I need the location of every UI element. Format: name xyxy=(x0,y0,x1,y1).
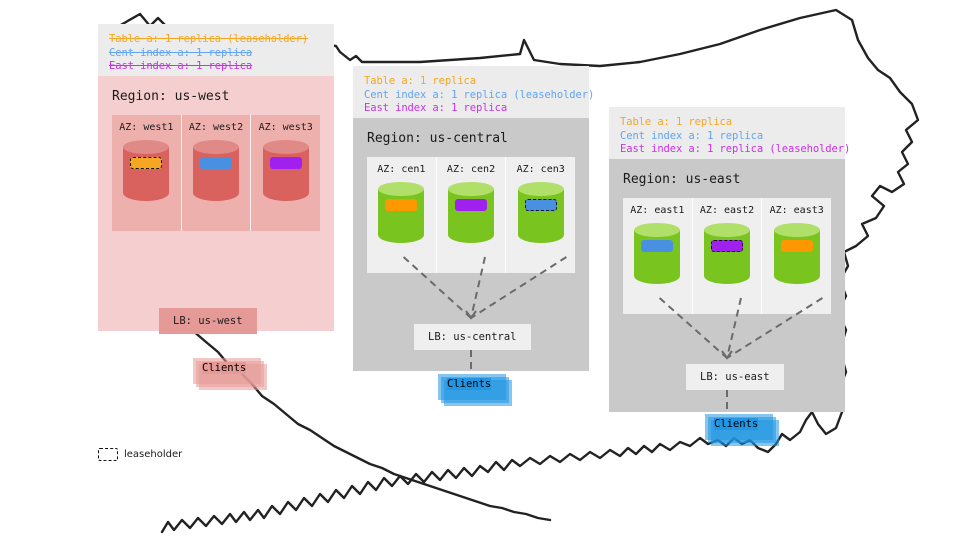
region-title-us-central: Region: us-central xyxy=(353,118,589,157)
clients-stack-us-west[interactable]: Clients xyxy=(190,355,258,381)
clients-box[interactable]: Clients xyxy=(190,355,258,381)
replica-legend-us-central: Table a: 1 replicaCent index a: 1 replic… xyxy=(353,66,589,118)
cylinder-top xyxy=(123,140,169,154)
az-label: AZ: east3 xyxy=(762,205,831,216)
region-title-us-east: Region: us-east xyxy=(609,159,845,198)
cylinder-body xyxy=(263,147,309,201)
clients-label: Clients xyxy=(202,362,246,374)
az-label: AZ: cen3 xyxy=(506,164,575,175)
database-cylinder-icon xyxy=(263,140,309,208)
database-cylinder-icon xyxy=(518,182,564,250)
legend-line-cent-us-west: Cent index a: 1 replica xyxy=(109,47,323,61)
clients-stack-us-central[interactable]: Clients xyxy=(435,371,503,397)
database-cylinder-icon xyxy=(378,182,424,250)
diagram-canvas: Table a: 1 replica (leaseholder)Cent ind… xyxy=(0,0,960,540)
az-cell-az-cen3[interactable]: AZ: cen3 xyxy=(505,157,575,273)
cylinder-body xyxy=(704,230,750,284)
cylinder-top xyxy=(634,223,680,237)
az-cell-az-cen1[interactable]: AZ: cen1 xyxy=(367,157,436,273)
replica-band xyxy=(455,199,487,211)
replica-band xyxy=(270,157,302,169)
clients-label: Clients xyxy=(447,378,491,390)
cylinder-top xyxy=(193,140,239,154)
clients-stack-us-east[interactable]: Clients xyxy=(702,411,770,437)
az-cell-az-cen2[interactable]: AZ: cen2 xyxy=(436,157,506,273)
leaseholder-legend: leaseholder xyxy=(98,448,182,461)
region-title-us-west: Region: us-west xyxy=(98,76,334,115)
clients-box[interactable]: Clients xyxy=(435,371,503,397)
replica-legend-us-east: Table a: 1 replicaCent index a: 1 replic… xyxy=(609,107,845,159)
cylinder-body xyxy=(123,147,169,201)
replica-band-leaseholder xyxy=(525,199,557,211)
legend-line-east-us-central: East index a: 1 replica xyxy=(364,102,578,116)
az-strip-us-central: AZ: cen1AZ: cen2AZ: cen3 xyxy=(367,157,575,273)
database-cylinder-icon xyxy=(704,223,750,291)
database-cylinder-icon xyxy=(448,182,494,250)
region-body-us-east: Region: us-eastAZ: east1AZ: east2AZ: eas… xyxy=(609,159,845,412)
az-label: AZ: west1 xyxy=(112,122,181,133)
az-label: AZ: cen2 xyxy=(437,164,506,175)
legend-line-cent-us-central: Cent index a: 1 replica (leaseholder) xyxy=(364,89,578,103)
az-label: AZ: west3 xyxy=(251,122,320,133)
region-body-us-central: Region: us-centralAZ: cen1AZ: cen2AZ: ce… xyxy=(353,118,589,371)
az-label: AZ: west2 xyxy=(182,122,251,133)
az-cell-az-east2[interactable]: AZ: east2 xyxy=(692,198,762,314)
az-label: AZ: east2 xyxy=(693,205,762,216)
database-cylinder-icon xyxy=(123,140,169,208)
cylinder-top xyxy=(378,182,424,196)
region-panel-us-east: Table a: 1 replicaCent index a: 1 replic… xyxy=(609,107,845,412)
legend-line-table-us-west: Table a: 1 replica (leaseholder) xyxy=(109,33,323,47)
database-cylinder-icon xyxy=(193,140,239,208)
legend-line-east-us-west: East index a: 1 replica xyxy=(109,60,323,74)
az-cell-az-west2[interactable]: AZ: west2 xyxy=(181,115,251,231)
cylinder-body xyxy=(193,147,239,201)
cylinder-body xyxy=(378,189,424,243)
region-panel-us-central: Table a: 1 replicaCent index a: 1 replic… xyxy=(353,66,589,371)
replica-band xyxy=(781,240,813,252)
cylinder-body xyxy=(634,230,680,284)
load-balancer-us-west[interactable]: LB: us-west xyxy=(159,308,257,334)
region-body-us-west: Region: us-westAZ: west1AZ: west2AZ: wes… xyxy=(98,76,334,331)
legend-line-cent-us-east: Cent index a: 1 replica xyxy=(620,130,834,144)
cylinder-body xyxy=(448,189,494,243)
database-cylinder-icon xyxy=(774,223,820,291)
cylinder-top xyxy=(774,223,820,237)
replica-band xyxy=(641,240,673,252)
dashed-rect-icon xyxy=(98,448,118,461)
replica-band xyxy=(385,199,417,211)
legend-line-east-us-east: East index a: 1 replica (leaseholder) xyxy=(620,143,834,157)
az-label: AZ: cen1 xyxy=(367,164,436,175)
load-balancer-us-central[interactable]: LB: us-central xyxy=(414,324,531,350)
leaseholder-legend-label: leaseholder xyxy=(124,449,182,460)
cylinder-top xyxy=(518,182,564,196)
clients-label: Clients xyxy=(714,418,758,430)
az-cell-az-east1[interactable]: AZ: east1 xyxy=(623,198,692,314)
cylinder-top xyxy=(263,140,309,154)
replica-band-leaseholder xyxy=(711,240,743,252)
az-label: AZ: east1 xyxy=(623,205,692,216)
az-cell-az-west1[interactable]: AZ: west1 xyxy=(112,115,181,231)
az-strip-us-west: AZ: west1AZ: west2AZ: west3 xyxy=(112,115,320,231)
cylinder-body xyxy=(518,189,564,243)
legend-line-table-us-central: Table a: 1 replica xyxy=(364,75,578,89)
az-cell-az-east3[interactable]: AZ: east3 xyxy=(761,198,831,314)
clients-box[interactable]: Clients xyxy=(702,411,770,437)
cylinder-top xyxy=(448,182,494,196)
cylinder-body xyxy=(774,230,820,284)
replica-legend-us-west: Table a: 1 replica (leaseholder)Cent ind… xyxy=(98,24,334,76)
database-cylinder-icon xyxy=(634,223,680,291)
region-panel-us-west: Table a: 1 replica (leaseholder)Cent ind… xyxy=(98,24,334,331)
az-cell-az-west3[interactable]: AZ: west3 xyxy=(250,115,320,231)
replica-band xyxy=(200,157,232,169)
az-strip-us-east: AZ: east1AZ: east2AZ: east3 xyxy=(623,198,831,314)
load-balancer-us-east[interactable]: LB: us-east xyxy=(686,364,784,390)
cylinder-top xyxy=(704,223,750,237)
legend-line-table-us-east: Table a: 1 replica xyxy=(620,116,834,130)
replica-band-leaseholder xyxy=(130,157,162,169)
